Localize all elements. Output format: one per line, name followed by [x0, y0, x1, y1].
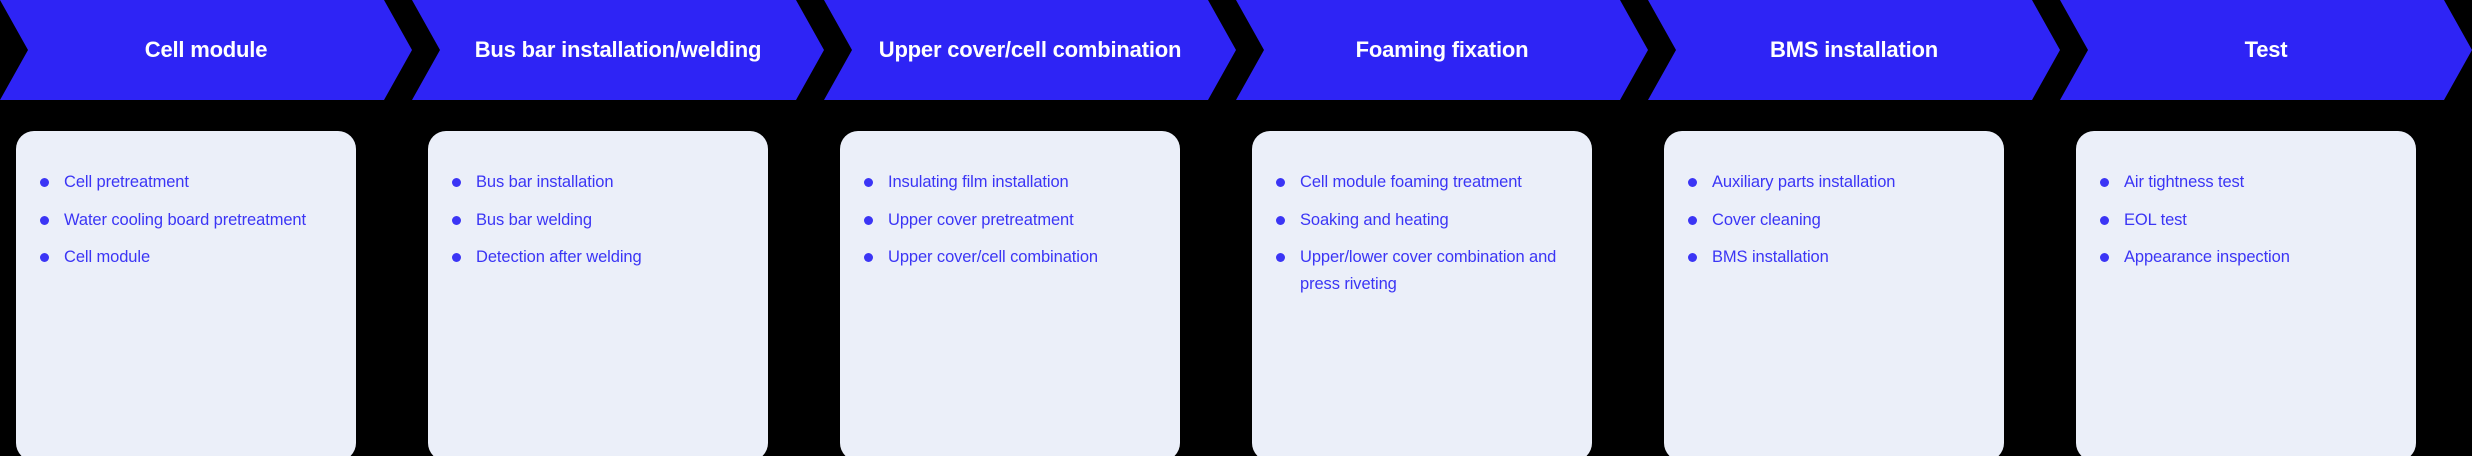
list-item: EOL test	[2098, 207, 2394, 234]
list-item-label: Bus bar installation	[476, 173, 613, 191]
list-item: Cell module	[38, 244, 334, 271]
list-item: Cell pretreatment	[38, 169, 334, 196]
stage-task-list: Bus bar installationBus bar weldingDetec…	[450, 169, 746, 271]
list-item-label: Bus bar welding	[476, 211, 592, 229]
list-item: Upper/lower cover combination and press …	[1274, 244, 1570, 297]
stage-header-label: Test	[2245, 36, 2288, 64]
bullet-dot-icon	[1276, 216, 1285, 225]
stage-detail-card-upper-cover-cell-combination: Insulating film installationUpper cover …	[840, 131, 1180, 456]
stage-detail-card-test: Air tightness testEOL testAppearance ins…	[2076, 131, 2416, 456]
bullet-dot-icon	[2100, 178, 2109, 187]
list-item-label: BMS installation	[1712, 248, 1829, 266]
list-item-label: Upper cover/cell combination	[888, 248, 1098, 266]
bullet-dot-icon	[40, 178, 49, 187]
list-item: BMS installation	[1686, 244, 1982, 271]
stage-header-label: Foaming fixation	[1356, 36, 1529, 64]
list-item-label: Upper cover pretreatment	[888, 211, 1074, 229]
list-item: Detection after welding	[450, 244, 746, 271]
process-stage-cell-module: Cell moduleCell pretreatmentWater coolin…	[0, 0, 412, 456]
stage-task-list: Cell module foaming treatmentSoaking and…	[1274, 169, 1570, 298]
bullet-dot-icon	[2100, 253, 2109, 262]
stage-header-chevron-test[interactable]: Test	[2060, 0, 2472, 100]
list-item: Upper cover pretreatment	[862, 207, 1158, 234]
process-stage-foaming-fixation: Foaming fixationCell module foaming trea…	[1236, 0, 1648, 456]
stage-header-label: Cell module	[145, 36, 268, 64]
bullet-dot-icon	[864, 216, 873, 225]
process-stage-bms-installation: BMS installationAuxiliary parts installa…	[1648, 0, 2060, 456]
process-stage-bus-bar-installation-welding: Bus bar installation/weldingBus bar inst…	[412, 0, 824, 456]
stage-header-chevron-bms-installation[interactable]: BMS installation	[1648, 0, 2060, 100]
bullet-dot-icon	[1276, 178, 1285, 187]
stage-header-label: BMS installation	[1770, 36, 1938, 64]
stage-detail-card-foaming-fixation: Cell module foaming treatmentSoaking and…	[1252, 131, 1592, 456]
bullet-dot-icon	[452, 178, 461, 187]
list-item-label: Cell module	[64, 248, 150, 266]
list-item-label: Detection after welding	[476, 248, 642, 266]
bullet-dot-icon	[40, 253, 49, 262]
list-item-label: Soaking and heating	[1300, 211, 1449, 229]
list-item-label: EOL test	[2124, 211, 2187, 229]
bullet-dot-icon	[864, 178, 873, 187]
list-item: Cell module foaming treatment	[1274, 169, 1570, 196]
list-item-label: Cell module foaming treatment	[1300, 173, 1522, 191]
list-item-label: Cover cleaning	[1712, 211, 1821, 229]
stage-header-chevron-bus-bar-installation-welding[interactable]: Bus bar installation/welding	[412, 0, 824, 100]
stage-header-chevron-foaming-fixation[interactable]: Foaming fixation	[1236, 0, 1648, 100]
bullet-dot-icon	[1688, 178, 1697, 187]
bullet-dot-icon	[452, 253, 461, 262]
stage-header-chevron-upper-cover-cell-combination[interactable]: Upper cover/cell combination	[824, 0, 1236, 100]
bullet-dot-icon	[864, 253, 873, 262]
stage-task-list: Cell pretreatmentWater cooling board pre…	[38, 169, 334, 271]
stage-task-list: Auxiliary parts installationCover cleani…	[1686, 169, 1982, 271]
bullet-dot-icon	[2100, 216, 2109, 225]
list-item-label: Water cooling board pretreatment	[64, 211, 306, 229]
bullet-dot-icon	[1688, 253, 1697, 262]
bullet-dot-icon	[40, 216, 49, 225]
process-stage-upper-cover-cell-combination: Upper cover/cell combinationInsulating f…	[824, 0, 1236, 456]
list-item: Upper cover/cell combination	[862, 244, 1158, 271]
list-item: Water cooling board pretreatment	[38, 207, 334, 234]
list-item-label: Insulating film installation	[888, 173, 1069, 191]
stage-header-chevron-cell-module[interactable]: Cell module	[0, 0, 412, 100]
stage-header-label: Bus bar installation/welding	[475, 36, 762, 64]
stage-detail-card-cell-module: Cell pretreatmentWater cooling board pre…	[16, 131, 356, 456]
list-item: Appearance inspection	[2098, 244, 2394, 271]
list-item: Soaking and heating	[1274, 207, 1570, 234]
list-item-label: Cell pretreatment	[64, 173, 189, 191]
list-item-label: Upper/lower cover combination and press …	[1300, 248, 1556, 293]
bullet-dot-icon	[1276, 253, 1285, 262]
stage-task-list: Insulating film installationUpper cover …	[862, 169, 1158, 271]
list-item-label: Appearance inspection	[2124, 248, 2290, 266]
stage-detail-card-bus-bar-installation-welding: Bus bar installationBus bar weldingDetec…	[428, 131, 768, 456]
list-item: Auxiliary parts installation	[1686, 169, 1982, 196]
list-item: Bus bar welding	[450, 207, 746, 234]
bullet-dot-icon	[1688, 216, 1697, 225]
stage-task-list: Air tightness testEOL testAppearance ins…	[2098, 169, 2394, 271]
stage-detail-card-bms-installation: Auxiliary parts installationCover cleani…	[1664, 131, 2004, 456]
list-item: Insulating film installation	[862, 169, 1158, 196]
list-item-label: Auxiliary parts installation	[1712, 173, 1895, 191]
process-flow-diagram: Cell moduleCell pretreatmentWater coolin…	[0, 0, 2472, 456]
list-item: Air tightness test	[2098, 169, 2394, 196]
list-item: Cover cleaning	[1686, 207, 1982, 234]
stage-header-label: Upper cover/cell combination	[879, 36, 1181, 64]
list-item: Bus bar installation	[450, 169, 746, 196]
bullet-dot-icon	[452, 216, 461, 225]
process-stage-test: TestAir tightness testEOL testAppearance…	[2060, 0, 2472, 456]
list-item-label: Air tightness test	[2124, 173, 2244, 191]
